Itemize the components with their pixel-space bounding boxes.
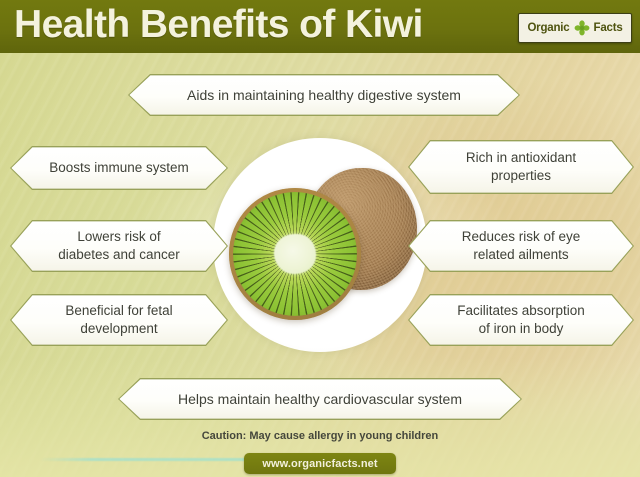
- website-url-badge[interactable]: www.organicfacts.net: [244, 453, 396, 474]
- callout-diabetes-cancer[interactable]: Lowers risk of diabetes and cancer: [10, 220, 228, 272]
- halved-kiwi: [229, 188, 361, 320]
- callout-eye-health-line2: related ailments: [473, 246, 568, 264]
- callout-antioxidant-line2: properties: [491, 167, 551, 185]
- kiwi-fruit-photo: [213, 138, 427, 352]
- callout-iron-absorption[interactable]: Facilitates absorption of iron in body: [408, 294, 634, 346]
- callout-fetal-development-line1: Beneficial for fetal: [65, 302, 172, 320]
- callout-digestive[interactable]: Aids in maintaining healthy digestive sy…: [128, 74, 520, 116]
- callout-diabetes-cancer-line2: diabetes and cancer: [58, 246, 180, 264]
- kiwi-rind: [229, 188, 361, 320]
- organic-facts-logo[interactable]: Organic Facts: [518, 13, 632, 43]
- callout-cardiovascular[interactable]: Helps maintain healthy cardiovascular sy…: [118, 378, 522, 420]
- callout-fetal-development[interactable]: Beneficial for fetal development: [10, 294, 228, 346]
- callout-cardiovascular-label: Helps maintain healthy cardiovascular sy…: [168, 390, 472, 408]
- logo-text-organic: Organic: [527, 22, 569, 34]
- callout-antioxidant[interactable]: Rich in antioxidant properties: [408, 140, 634, 194]
- page-title: Health Benefits of Kiwi: [14, 3, 423, 47]
- infographic-root: Health Benefits of Kiwi Organic Facts: [0, 0, 640, 477]
- callout-antioxidant-line1: Rich in antioxidant: [466, 149, 576, 167]
- callout-diabetes-cancer-line1: Lowers risk of: [77, 228, 160, 246]
- website-url-text: www.organicfacts.net: [262, 458, 377, 470]
- clover-leaf-icon: [573, 19, 591, 37]
- callout-eye-health-line1: Reduces risk of eye: [462, 228, 581, 246]
- callout-iron-absorption-line2: of iron in body: [479, 320, 564, 338]
- callout-immune-label: Boosts immune system: [39, 159, 199, 177]
- caution-note: Caution: May cause allergy in young chil…: [0, 430, 640, 442]
- logo-text-facts: Facts: [594, 22, 623, 34]
- header-bar: Health Benefits of Kiwi Organic Facts: [0, 0, 640, 53]
- callout-digestive-label: Aids in maintaining healthy digestive sy…: [177, 86, 471, 104]
- callout-fetal-development-line2: development: [80, 320, 157, 338]
- callout-eye-health[interactable]: Reduces risk of eye related ailments: [408, 220, 634, 272]
- callout-iron-absorption-line1: Facilitates absorption: [457, 302, 585, 320]
- callout-immune[interactable]: Boosts immune system: [10, 146, 228, 190]
